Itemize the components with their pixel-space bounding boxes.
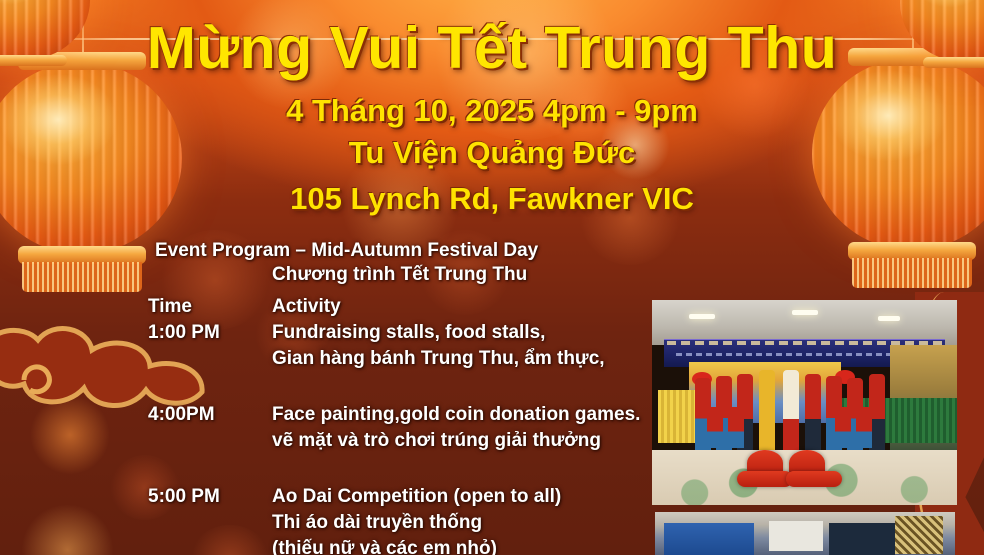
photo-ceiling-light xyxy=(792,310,818,315)
program-row-activity-en: Face painting,gold coin donation games. xyxy=(272,404,640,426)
event-venue: Tu Viện Quảng Đức xyxy=(0,135,984,171)
program-row-time: 5:00 PM xyxy=(148,486,220,508)
photo2-wood-carving xyxy=(895,516,943,554)
photo-lion-body xyxy=(786,471,842,487)
photo-lion-body xyxy=(737,471,793,487)
event-date-time: 4 Tháng 10, 2025 4pm - 9pm xyxy=(0,93,984,129)
photo-ceiling-light xyxy=(689,314,715,319)
program-row-activity-vi2: (thiếu nữ và các em nhỏ) xyxy=(272,538,497,555)
bokeh-circle xyxy=(30,395,110,475)
program-row-activity-vi: Thi áo dài truyền thống xyxy=(272,512,482,534)
program-heading-en: Event Program – Mid-Autumn Festival Day xyxy=(155,240,538,262)
column-header-activity: Activity xyxy=(272,296,341,318)
program-row-time: 1:00 PM xyxy=(148,322,220,344)
photo-lion-dance-troupe xyxy=(652,300,957,505)
event-address: 105 Lynch Rd, Fawkner VIC xyxy=(0,181,984,217)
lantern-base xyxy=(18,246,146,263)
column-header-time: Time xyxy=(148,296,192,318)
photo2-blue-mural xyxy=(664,523,754,555)
program-row-activity-vi: Gian hàng bánh Trung Thu, ẩm thực, xyxy=(272,348,605,370)
program-row-activity-en: Fundraising stalls, food stalls, xyxy=(272,322,545,344)
photo-performer-kneeling xyxy=(728,407,744,448)
bokeh-circle xyxy=(20,505,115,555)
program-row-activity-vi: vẽ mặt và trò chơi trúng giải thưởng xyxy=(272,430,601,452)
program-row-time: 4:00PM xyxy=(148,404,215,426)
photo-temple-hall xyxy=(655,512,955,555)
photo2-window xyxy=(769,521,823,551)
photo-performer-kneeling xyxy=(835,407,851,448)
photo-performer-elder xyxy=(783,370,799,452)
program-heading-vi: Chương trình Tết Trung Thu xyxy=(272,264,527,286)
photo-banner-subtext xyxy=(676,353,890,356)
page-title: Mừng Vui Tết Trung Thu xyxy=(0,14,984,82)
lantern-base xyxy=(848,242,976,259)
photo2-dark-panel xyxy=(829,523,895,555)
photo-performer-kneeling xyxy=(856,407,872,448)
bokeh-circle xyxy=(190,525,270,555)
lantern-fringe xyxy=(22,262,142,293)
photo-performer xyxy=(805,374,821,452)
photo-ceiling-light xyxy=(878,316,900,321)
lantern-fringe xyxy=(852,258,972,289)
photo-performer-kneeling xyxy=(707,407,723,448)
mid-autumn-festival-poster: Mừng Vui Tết Trung Thu 4 Tháng 10, 2025 … xyxy=(0,0,984,555)
photo-performer-monk xyxy=(759,370,775,452)
program-row-activity-en: Ao Dai Competition (open to all) xyxy=(272,486,561,508)
